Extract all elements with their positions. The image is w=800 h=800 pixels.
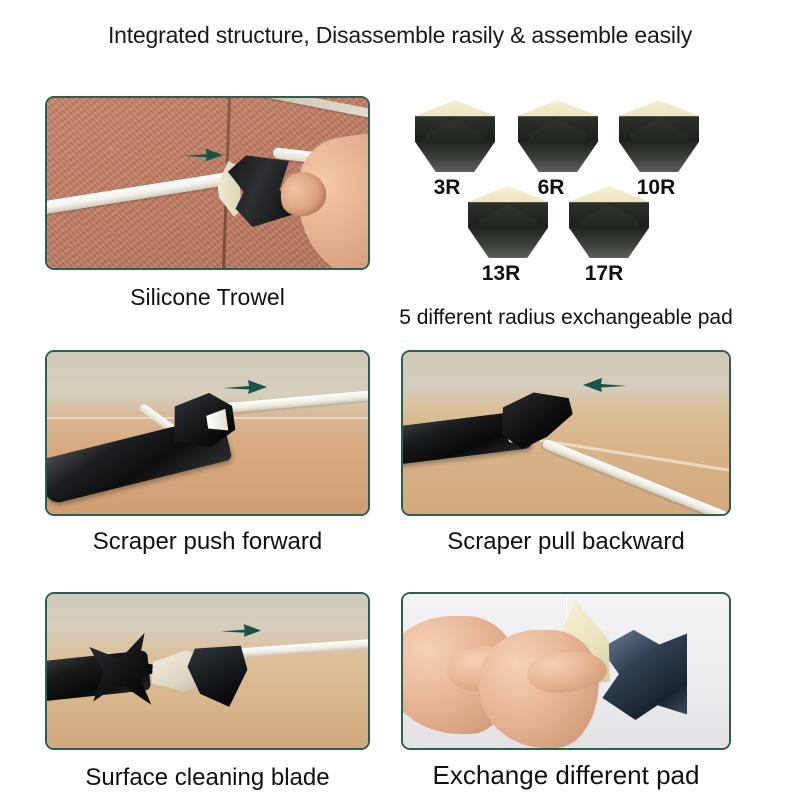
- pad-label-13r: 13R: [461, 262, 541, 286]
- panel-scraper-push-forward: [45, 350, 370, 516]
- exchange-pad-photo: [403, 594, 729, 748]
- pad-label-17r: 17R: [564, 262, 644, 286]
- pad-3r: [415, 100, 495, 172]
- panel-scraper-pull-backward: [401, 350, 731, 516]
- panel-silicone-trowel: [45, 96, 370, 270]
- pad-17r: [569, 186, 649, 258]
- pad-10r: [619, 100, 699, 172]
- pad-6r: [518, 100, 598, 172]
- arrow-right-icon: [183, 148, 223, 162]
- scraper-push-photo: [47, 352, 368, 514]
- arrow-right-icon: [221, 624, 261, 637]
- panel-exchange-different-pad: [401, 592, 731, 750]
- arrow-right-icon: [223, 380, 267, 394]
- caption-surface-cleaning-blade: Surface cleaning blade: [45, 764, 370, 792]
- arrow-left-icon: [583, 378, 627, 392]
- page-title: Integrated structure, Disassemble rasily…: [0, 22, 800, 49]
- pad-13r: [468, 186, 548, 258]
- caulk-bead: [541, 438, 729, 514]
- panel-surface-cleaning-blade: [45, 592, 370, 750]
- scraper-pull-photo: [403, 352, 729, 514]
- blade-tip: [185, 642, 249, 708]
- surface-cleaning-blade-photo: [47, 594, 368, 748]
- caption-silicone-trowel: Silicone Trowel: [45, 284, 370, 311]
- caption-scraper-push-forward: Scraper push forward: [45, 528, 370, 556]
- caption-scraper-pull-backward: Scraper pull backward: [401, 528, 731, 556]
- caption-exchange-different-pad: Exchange different pad: [396, 760, 736, 791]
- panel-exchangeable-pads: 3R 6R 10R 13R 17R: [401, 96, 731, 296]
- silicone-trowel-photo: [47, 98, 368, 268]
- caption-exchangeable-pads: 5 different radius exchangeable pad: [396, 306, 736, 330]
- tile-grout-line-diagonal: [242, 98, 368, 127]
